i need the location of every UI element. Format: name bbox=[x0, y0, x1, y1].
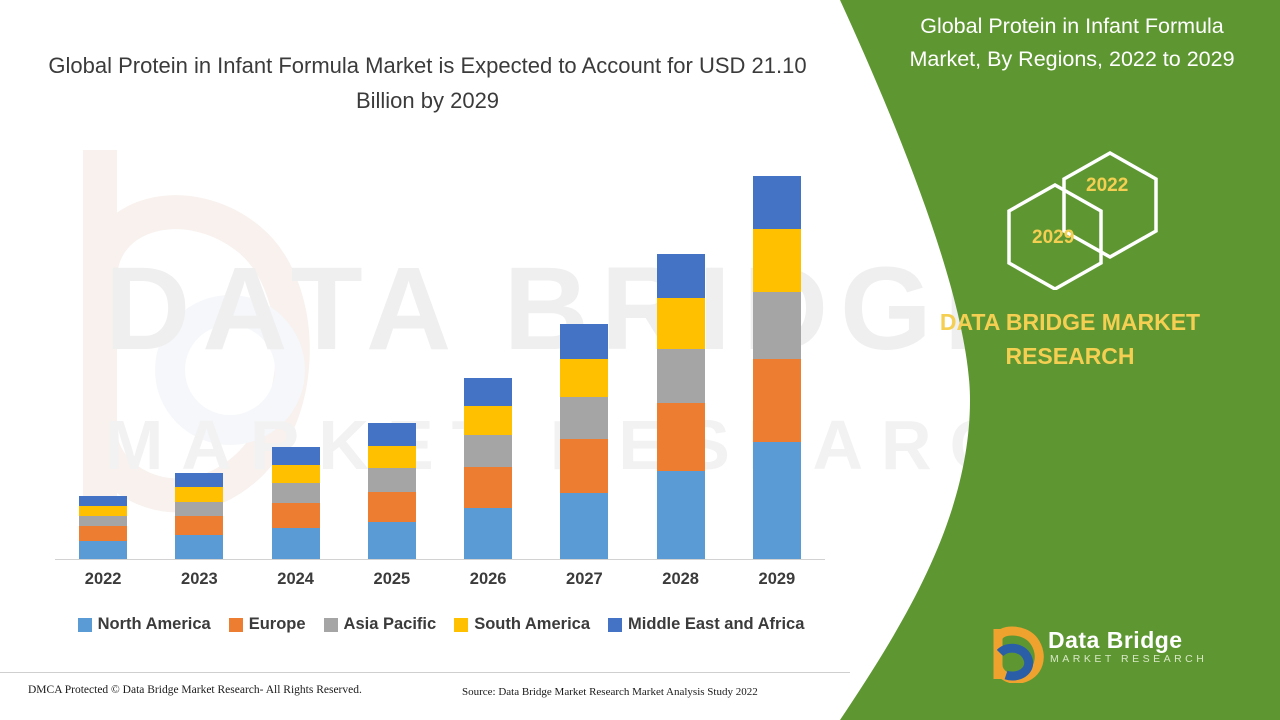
legend-label: North America bbox=[98, 615, 211, 634]
x-axis-tick-label: 2028 bbox=[633, 570, 729, 589]
brand-name: Data Bridge bbox=[1048, 627, 1183, 654]
bar-segment bbox=[368, 492, 416, 523]
bar-segment bbox=[464, 406, 512, 436]
legend-swatch bbox=[608, 618, 622, 632]
bar-column bbox=[633, 150, 729, 559]
bar-segment bbox=[368, 468, 416, 492]
legend-swatch bbox=[324, 618, 338, 632]
stacked-bar bbox=[79, 496, 127, 559]
bar-column bbox=[151, 150, 247, 559]
bar-segment bbox=[272, 465, 320, 483]
page-title: Global Protein in Infant Formula Market … bbox=[40, 48, 815, 118]
company-name: DATA BRIDGE MARKET RESEARCH bbox=[880, 305, 1260, 373]
footer-copyright: DMCA Protected © Data Bridge Market Rese… bbox=[28, 684, 362, 696]
footer-divider bbox=[0, 672, 850, 673]
bar-segment bbox=[175, 502, 223, 516]
bar-segment bbox=[657, 403, 705, 472]
x-axis-tick-label: 2026 bbox=[440, 570, 536, 589]
bar-segment bbox=[368, 423, 416, 445]
stacked-bar bbox=[272, 447, 320, 559]
bar-column bbox=[248, 150, 344, 559]
x-axis-tick-label: 2022 bbox=[55, 570, 151, 589]
bar-column bbox=[729, 150, 825, 559]
chart-legend: North AmericaEuropeAsia PacificSouth Ame… bbox=[55, 615, 845, 634]
bar-column bbox=[440, 150, 536, 559]
x-axis-tick-label: 2024 bbox=[248, 570, 344, 589]
infographic-page: DATA BRIDGE MARKET RESEARCH Global Prote… bbox=[0, 0, 1280, 720]
company-name-line1: DATA BRIDGE MARKET bbox=[940, 309, 1200, 335]
bar-segment bbox=[753, 176, 801, 229]
bar-segment bbox=[560, 324, 608, 359]
stacked-bar-chart bbox=[55, 150, 825, 560]
data-bridge-logo-icon bbox=[990, 625, 1046, 683]
footer-source: Source: Data Bridge Market Research Mark… bbox=[462, 686, 758, 698]
hexagon-icon bbox=[960, 145, 1260, 290]
bar-segment bbox=[464, 508, 512, 559]
bar-segment bbox=[272, 503, 320, 529]
stacked-bar bbox=[657, 254, 705, 559]
bar-segment bbox=[753, 229, 801, 292]
brand-tagline: MARKET RESEARCH bbox=[1050, 653, 1207, 665]
x-axis-tick-label: 2027 bbox=[536, 570, 632, 589]
bar-segment bbox=[753, 442, 801, 559]
bar-segment bbox=[79, 526, 127, 540]
bar-segment bbox=[560, 493, 608, 559]
bar-column bbox=[344, 150, 440, 559]
legend-item[interactable]: Middle East and Africa bbox=[608, 615, 804, 634]
brand-logo: Data Bridge MARKET RESEARCH bbox=[990, 625, 1240, 695]
bar-segment bbox=[175, 487, 223, 501]
stacked-bar bbox=[464, 378, 512, 559]
stacked-bar bbox=[368, 423, 416, 559]
bar-segment bbox=[79, 496, 127, 506]
bar-segment bbox=[753, 359, 801, 443]
bar-segment bbox=[79, 541, 127, 559]
legend-label: Asia Pacific bbox=[344, 615, 437, 634]
legend-label: Middle East and Africa bbox=[628, 615, 804, 634]
bar-segment bbox=[79, 506, 127, 516]
legend-swatch bbox=[229, 618, 243, 632]
bar-segment bbox=[464, 467, 512, 508]
bar-segment bbox=[560, 359, 608, 398]
hex-label-2022: 2022 bbox=[1086, 175, 1128, 197]
legend-swatch bbox=[454, 618, 468, 632]
legend-item[interactable]: North America bbox=[78, 615, 211, 634]
bar-segment bbox=[657, 471, 705, 559]
bar-segment bbox=[79, 516, 127, 526]
x-axis-tick-label: 2023 bbox=[151, 570, 247, 589]
bar-segment bbox=[657, 298, 705, 349]
bar-segment bbox=[560, 397, 608, 439]
bar-segment bbox=[175, 473, 223, 487]
right-panel: Global Protein in Infant Formula Market,… bbox=[840, 0, 1280, 720]
legend-item[interactable]: Europe bbox=[229, 615, 306, 634]
bar-segment bbox=[753, 292, 801, 358]
bar-segment bbox=[657, 349, 705, 402]
hex-label-2029: 2029 bbox=[1032, 227, 1074, 249]
bar-segment bbox=[657, 254, 705, 298]
stacked-bar bbox=[560, 324, 608, 559]
stacked-bar bbox=[753, 176, 801, 559]
legend-item[interactable]: Asia Pacific bbox=[324, 615, 437, 634]
x-axis-tick-label: 2025 bbox=[344, 570, 440, 589]
x-axis-labels: 20222023202420252026202720282029 bbox=[55, 570, 825, 589]
x-axis-line bbox=[55, 559, 825, 560]
bar-segment bbox=[464, 435, 512, 467]
bar-column bbox=[536, 150, 632, 559]
legend-swatch bbox=[78, 618, 92, 632]
bar-segment bbox=[368, 522, 416, 559]
bar-segment bbox=[175, 535, 223, 559]
bars-container bbox=[55, 150, 825, 559]
bar-segment bbox=[464, 378, 512, 406]
bar-column bbox=[55, 150, 151, 559]
panel-title: Global Protein in Infant Formula Market,… bbox=[882, 10, 1262, 76]
company-name-line2: RESEARCH bbox=[1005, 343, 1134, 369]
stacked-bar bbox=[175, 473, 223, 559]
legend-label: South America bbox=[474, 615, 590, 634]
legend-label: Europe bbox=[249, 615, 306, 634]
hexagon-group: 2022 2029 bbox=[960, 145, 1260, 290]
bar-segment bbox=[272, 483, 320, 502]
x-axis-tick-label: 2029 bbox=[729, 570, 825, 589]
bar-segment bbox=[272, 447, 320, 465]
bar-segment bbox=[368, 446, 416, 468]
legend-item[interactable]: South America bbox=[454, 615, 590, 634]
bar-segment bbox=[175, 516, 223, 535]
bar-segment bbox=[272, 528, 320, 559]
bar-segment bbox=[560, 439, 608, 492]
